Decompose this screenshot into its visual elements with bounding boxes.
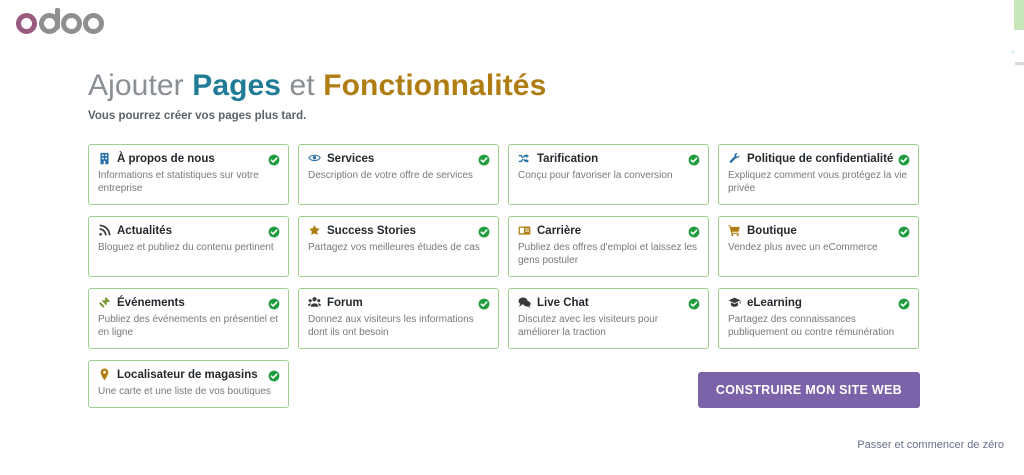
check-circle-icon[interactable] — [268, 297, 280, 309]
feature-card[interactable]: ServicesDescription de votre offre de se… — [298, 144, 499, 205]
edge-tick — [1015, 62, 1024, 65]
feature-card[interactable]: TarificationConçu pour favoriser la conv… — [508, 144, 709, 205]
feature-card[interactable]: À propos de nousInformations et statisti… — [88, 144, 289, 205]
feature-card-title: Live Chat — [537, 297, 589, 309]
check-circle-icon[interactable] — [898, 153, 910, 165]
feature-card[interactable]: Politique de confidentialitéExpliquez co… — [718, 144, 919, 205]
check-circle-icon[interactable] — [268, 225, 280, 237]
skip-row: Passer et commencer de zéro — [0, 439, 1024, 451]
check-circle-icon[interactable] — [688, 153, 700, 165]
title-text-2: et — [281, 69, 323, 102]
feature-card-head: Forum — [308, 296, 489, 309]
cart-icon — [728, 224, 741, 237]
id-card-icon — [518, 224, 531, 237]
feature-card-head: Actualités — [98, 224, 279, 237]
check-circle-icon[interactable] — [898, 225, 910, 237]
logo-letter-o-1 — [16, 13, 37, 34]
title-text-1: Ajouter — [88, 69, 192, 102]
wrench-icon — [728, 152, 741, 165]
feature-card-head: Boutique — [728, 224, 909, 237]
feature-card-title: eLearning — [747, 297, 802, 309]
feature-card-title: Boutique — [747, 225, 797, 237]
feature-card[interactable]: eLearningPartagez des connaissances publ… — [718, 288, 919, 349]
onboarding-page: Ajouter Pages et Fonctionnalités Vous po… — [0, 0, 1024, 475]
check-circle-icon[interactable] — [688, 225, 700, 237]
logo-letter-o-3 — [83, 13, 104, 34]
shuffle-icon — [518, 152, 531, 165]
star-icon — [308, 224, 321, 237]
logo-letter-d — [39, 13, 60, 34]
feature-card-description: Expliquez comment vous protégez la vie p… — [728, 169, 909, 195]
cta-row: CONSTRUIRE MON SITE WEB — [0, 372, 1024, 408]
feature-card-title: Actualités — [117, 225, 172, 237]
feature-card-head: Services — [308, 152, 489, 165]
feature-card-head: Politique de confidentialité — [728, 152, 909, 165]
check-circle-icon[interactable] — [478, 153, 490, 165]
feature-card[interactable]: Success StoriesPartagez vos meilleures é… — [298, 216, 499, 277]
page-subtitle: Vous pourrez créer vos pages plus tard. — [88, 110, 928, 122]
check-circle-icon[interactable] — [478, 225, 490, 237]
feature-card-head: Live Chat — [518, 296, 699, 309]
check-circle-icon[interactable] — [688, 297, 700, 309]
feature-card-head: À propos de nous — [98, 152, 279, 165]
odoo-logo[interactable] — [16, 8, 104, 38]
handshake-icon — [308, 152, 321, 165]
comments-icon — [518, 296, 531, 309]
check-circle-icon[interactable] — [898, 297, 910, 309]
page-title: Ajouter Pages et Fonctionnalités — [88, 66, 928, 106]
feature-card-head: Tarification — [518, 152, 699, 165]
feature-card[interactable]: ActualitésBloguez et publiez du contenu … — [88, 216, 289, 277]
feature-card-description: Description de votre offre de services — [308, 169, 489, 182]
feature-card-description: Publiez des offres d'emploi et laissez l… — [518, 241, 699, 267]
feature-card[interactable]: ForumDonnez aux visiteurs les informatio… — [298, 288, 499, 349]
check-circle-icon[interactable] — [478, 297, 490, 309]
feature-card[interactable]: ÉvénementsPubliez des événements en prés… — [88, 288, 289, 349]
feature-card-description: Donnez aux visiteurs les informations do… — [308, 313, 489, 339]
edge-dot — [1011, 50, 1015, 54]
feature-card-title: Services — [327, 153, 374, 165]
page-header: Ajouter Pages et Fonctionnalités Vous po… — [88, 66, 928, 122]
feature-card-head: Événements — [98, 296, 279, 309]
feature-card-description: Conçu pour favoriser la conversion — [518, 169, 699, 182]
edge-panel-strip — [1014, 0, 1024, 30]
feature-card-title: Success Stories — [327, 225, 416, 237]
feature-card-description: Partagez vos meilleures études de cas — [308, 241, 489, 254]
feature-card-description: Vendez plus avec un eCommerce — [728, 241, 909, 254]
feature-card-title: Événements — [117, 297, 185, 309]
feature-card-head: Carrière — [518, 224, 699, 237]
check-circle-icon[interactable] — [268, 153, 280, 165]
feature-card-description: Discutez avec les visiteurs pour amélior… — [518, 313, 699, 339]
feature-card-grid: À propos de nousInformations et statisti… — [88, 144, 924, 408]
rss-icon — [98, 224, 111, 237]
feature-card-description: Informations et statistiques sur votre e… — [98, 169, 279, 195]
feature-card[interactable]: Live ChatDiscutez avec les visiteurs pou… — [508, 288, 709, 349]
title-highlight-pages: Pages — [192, 69, 281, 102]
build-website-button[interactable]: CONSTRUIRE MON SITE WEB — [698, 372, 920, 408]
users-icon — [308, 296, 321, 309]
ticket-icon — [98, 296, 111, 309]
feature-card-head: eLearning — [728, 296, 909, 309]
feature-card-title: À propos de nous — [117, 153, 215, 165]
skip-link[interactable]: Passer et commencer de zéro — [857, 439, 1004, 451]
feature-card[interactable]: BoutiqueVendez plus avec un eCommerce — [718, 216, 919, 277]
feature-card-head: Success Stories — [308, 224, 489, 237]
feature-card-title: Politique de confidentialité — [747, 153, 893, 165]
feature-card-description: Publiez des événements en présentiel et … — [98, 313, 279, 339]
feature-card[interactable]: CarrièrePubliez des offres d'emploi et l… — [508, 216, 709, 277]
feature-card-title: Carrière — [537, 225, 581, 237]
feature-card-description: Bloguez et publiez du contenu pertinent — [98, 241, 279, 254]
feature-card-title: Tarification — [537, 153, 598, 165]
feature-card-title: Forum — [327, 297, 363, 309]
building-icon — [98, 152, 111, 165]
logo-letter-o-2 — [61, 13, 82, 34]
feature-card-description: Partagez des connaissances publiquement … — [728, 313, 909, 339]
graduation-cap-icon — [728, 296, 741, 309]
title-highlight-features: Fonctionnalités — [323, 69, 546, 102]
